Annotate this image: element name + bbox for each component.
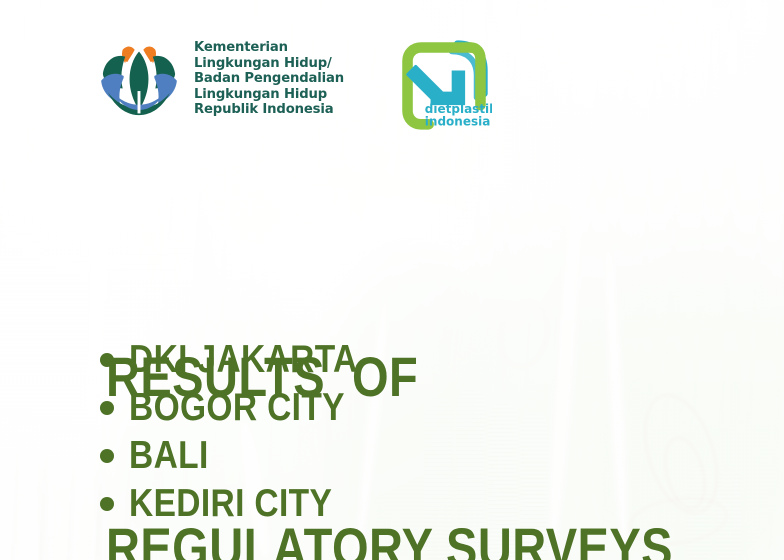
bullet-dot-icon: [100, 353, 114, 367]
list-item: BOGOR CITY: [100, 384, 395, 432]
presentation-slide: Kementerian Lingkungan Hidup/ Badan Peng…: [0, 0, 784, 560]
dietplastik-logo-lockup: dietplastik indonesia: [396, 36, 492, 132]
region-label: BOGOR CITY: [129, 388, 345, 428]
region-label: BALI: [129, 436, 209, 476]
region-list: DKI JAKARTA BOGOR CITY BALI KEDIRI CITY: [100, 336, 395, 528]
ministry-logo-lockup: Kementerian Lingkungan Hidup/ Badan Peng…: [96, 33, 344, 125]
list-item: KEDIRI CITY: [100, 480, 395, 528]
dietplastik-wordmark-line2: indonesia: [425, 114, 491, 128]
logo-row: Kementerian Lingkungan Hidup/ Badan Peng…: [96, 33, 492, 132]
bullet-dot-icon: [100, 401, 114, 415]
region-label: DKI JAKARTA: [129, 340, 358, 380]
dietplastik-logo-icon: dietplastik indonesia: [396, 36, 492, 132]
bullet-dot-icon: [100, 449, 114, 463]
list-item: DKI JAKARTA: [100, 336, 395, 384]
klhk-emblem-icon: [96, 33, 182, 125]
list-item: BALI: [100, 432, 395, 480]
ministry-logo-text: Kementerian Lingkungan Hidup/ Badan Peng…: [194, 40, 344, 118]
region-label: KEDIRI CITY: [129, 484, 332, 524]
bullet-dot-icon: [100, 497, 114, 511]
